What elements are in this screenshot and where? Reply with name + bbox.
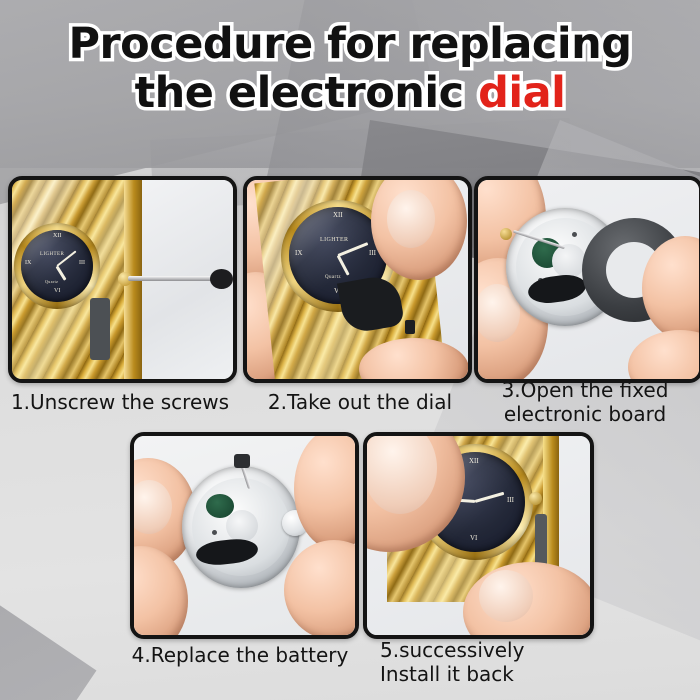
crown-5 [529, 492, 542, 505]
step-caption-3-line1: 3.Open the fixed [470, 378, 700, 402]
fingernail-bottom-5 [479, 570, 533, 622]
screwdriver-shaft-1 [128, 276, 216, 281]
tweezer-tip-4 [234, 454, 250, 468]
step-image-3 [474, 176, 700, 383]
step-image-5: XII III VI IX [363, 432, 594, 639]
step-caption-2: 2.Take out the dial [240, 390, 480, 414]
photo-2: XII III VI IX LIGHTER Quartz [247, 180, 468, 379]
title-line-2: the electronic dial [0, 71, 700, 116]
step-caption-4: 4.Replace the battery [120, 643, 360, 667]
step-caption-3: 3.Open the fixed electronic board [470, 378, 700, 426]
fingernail-right-2 [387, 190, 435, 248]
screw-loose-2 [405, 320, 415, 334]
title-highlight-dial: dial [478, 68, 565, 118]
step-caption-5: 5.successively Install it back [380, 638, 595, 686]
coil-4 [226, 510, 258, 542]
coil-3 [552, 244, 586, 278]
photo-3 [478, 180, 699, 379]
photo-5: XII III VI IX [367, 436, 590, 635]
photo-4 [134, 436, 355, 635]
step-image-4 [130, 432, 359, 639]
infographic-root: Procedure for replacing the electronic d… [0, 0, 700, 700]
step-caption-3-line2: electronic board [470, 402, 700, 426]
step-caption-5-line2: Install it back [380, 662, 595, 686]
step-image-2: XII III VI IX LIGHTER Quartz [243, 176, 472, 383]
screwdriver-handle-1 [210, 269, 233, 289]
page-title: Procedure for replacing the electronic d… [0, 22, 700, 116]
title-line-2-prefix: the electronic [135, 68, 478, 118]
step-caption-5-line1: 5.successively [380, 638, 595, 662]
title-line-1: Procedure for replacing [0, 22, 700, 67]
lighter-button-1 [90, 298, 110, 360]
photo-1: XII III VI IX LIGHTER Quartz [12, 180, 233, 379]
step-caption-1: 1.Unscrew the screws [0, 390, 240, 414]
step-image-1: XII III VI IX LIGHTER Quartz [8, 176, 237, 383]
watch-glass-glare-1 [21, 230, 93, 302]
crown-stem-3 [500, 228, 512, 240]
